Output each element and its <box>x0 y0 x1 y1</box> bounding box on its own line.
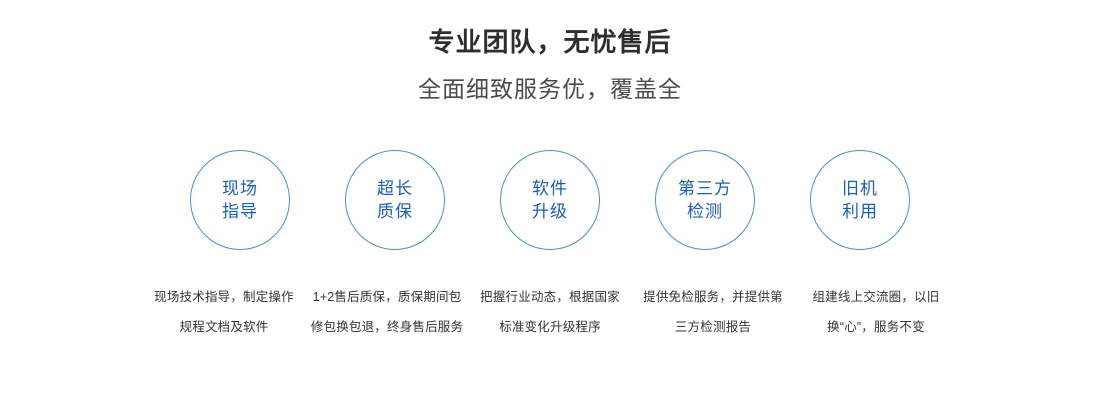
feature-circles-row: 现场 指导 超长 质保 软件 升级 第三方 检测 旧机 <box>0 150 1100 250</box>
feature-caption-1: 现场技术指导，制定操作 规程文档及软件 <box>143 282 306 342</box>
heading-block: 专业团队，无忧售后 全面细致服务优，覆盖全 <box>0 0 1100 104</box>
feature-caption-4: 提供免检服务，并提供第 三方检测报告 <box>632 282 795 342</box>
feature-circle-label-line2: 质保 <box>377 200 413 223</box>
feature-item-2: 超长 质保 <box>318 150 473 250</box>
feature-circle-label-line2: 指导 <box>222 200 258 223</box>
feature-captions-row: 现场技术指导，制定操作 规程文档及软件 1+2售后质保，质保期间包 修包换包退，… <box>0 282 1100 342</box>
caption-line-1: 把握行业动态，根据国家 <box>469 282 632 312</box>
feature-circle-5[interactable]: 旧机 利用 <box>810 150 910 250</box>
feature-circle-label-line1: 软件 <box>532 177 568 200</box>
feature-item-4: 第三方 检测 <box>628 150 783 250</box>
caption-line-1: 提供免检服务，并提供第 <box>632 282 795 312</box>
service-promise-section: 专业团队，无忧售后 全面细致服务优，覆盖全 现场 指导 超长 质保 软件 升级 … <box>0 0 1100 404</box>
feature-item-5: 旧机 利用 <box>783 150 938 250</box>
feature-circle-2[interactable]: 超长 质保 <box>345 150 445 250</box>
feature-circle-label-line1: 现场 <box>222 177 258 200</box>
caption-line-2: 换“心”，服务不变 <box>795 312 958 342</box>
caption-line-2: 三方检测报告 <box>632 312 795 342</box>
feature-circle-label-line2: 利用 <box>842 200 878 223</box>
page-subtitle: 全面细致服务优，覆盖全 <box>0 59 1100 105</box>
caption-line-2: 规程文档及软件 <box>143 312 306 342</box>
caption-line-1: 1+2售后质保，质保期间包 <box>306 282 469 312</box>
feature-circle-label-line1: 旧机 <box>842 177 878 200</box>
feature-item-1: 现场 指导 <box>163 150 318 250</box>
feature-circle-label-line1: 第三方 <box>678 177 732 200</box>
feature-item-3: 软件 升级 <box>473 150 628 250</box>
page-title: 专业团队，无忧售后 <box>0 0 1100 59</box>
feature-circle-label-line2: 升级 <box>532 200 568 223</box>
caption-line-2: 标准变化升级程序 <box>469 312 632 342</box>
caption-line-1: 现场技术指导，制定操作 <box>143 282 306 312</box>
feature-caption-5: 组建线上交流圈，以旧 换“心”，服务不变 <box>795 282 958 342</box>
feature-circle-label-line2: 检测 <box>687 200 723 223</box>
feature-circle-3[interactable]: 软件 升级 <box>500 150 600 250</box>
feature-caption-2: 1+2售后质保，质保期间包 修包换包退，终身售后服务 <box>306 282 469 342</box>
feature-circle-4[interactable]: 第三方 检测 <box>655 150 755 250</box>
feature-circle-label-line1: 超长 <box>377 177 413 200</box>
caption-line-1: 组建线上交流圈，以旧 <box>795 282 958 312</box>
feature-caption-3: 把握行业动态，根据国家 标准变化升级程序 <box>469 282 632 342</box>
caption-line-2: 修包换包退，终身售后服务 <box>306 312 469 342</box>
feature-circle-1[interactable]: 现场 指导 <box>190 150 290 250</box>
